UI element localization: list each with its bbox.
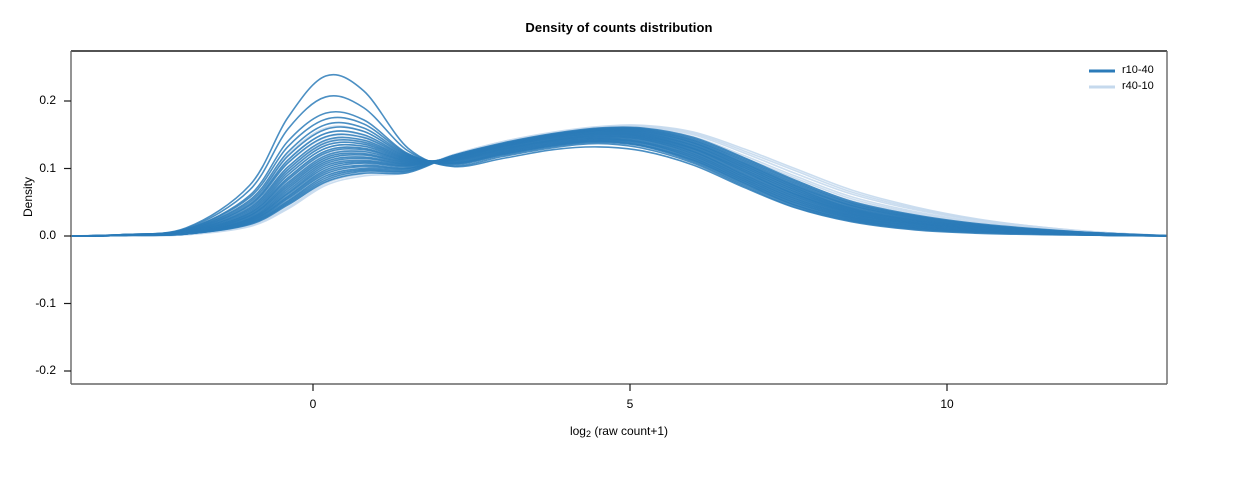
y-tick-label: -0.2 <box>11 363 56 377</box>
x-tick-label: 5 <box>605 397 655 411</box>
x-axis-label: log2 (raw count+1) <box>0 424 1238 438</box>
x-axis-label-suffix: (raw count+1) <box>591 424 668 438</box>
x-axis-label-subscript: 2 <box>586 429 591 439</box>
y-tick-label: -0.1 <box>11 296 56 310</box>
y-tick-label: 0.2 <box>11 93 56 107</box>
density-plot-figure: Density of counts distribution 0.20.10.0… <box>0 0 1238 500</box>
x-axis-label-prefix: log <box>570 424 586 438</box>
legend-swatches-layer <box>1089 71 1115 87</box>
y-axis-label: Density <box>21 147 35 247</box>
legend-label: r40-10 <box>1122 80 1154 92</box>
density-curves-layer <box>72 75 1175 236</box>
legend-label: r10-40 <box>1122 64 1154 76</box>
x-tick-label: 10 <box>922 397 972 411</box>
x-tick-label: 0 <box>288 397 338 411</box>
density-series-r10-40 <box>72 75 1175 236</box>
